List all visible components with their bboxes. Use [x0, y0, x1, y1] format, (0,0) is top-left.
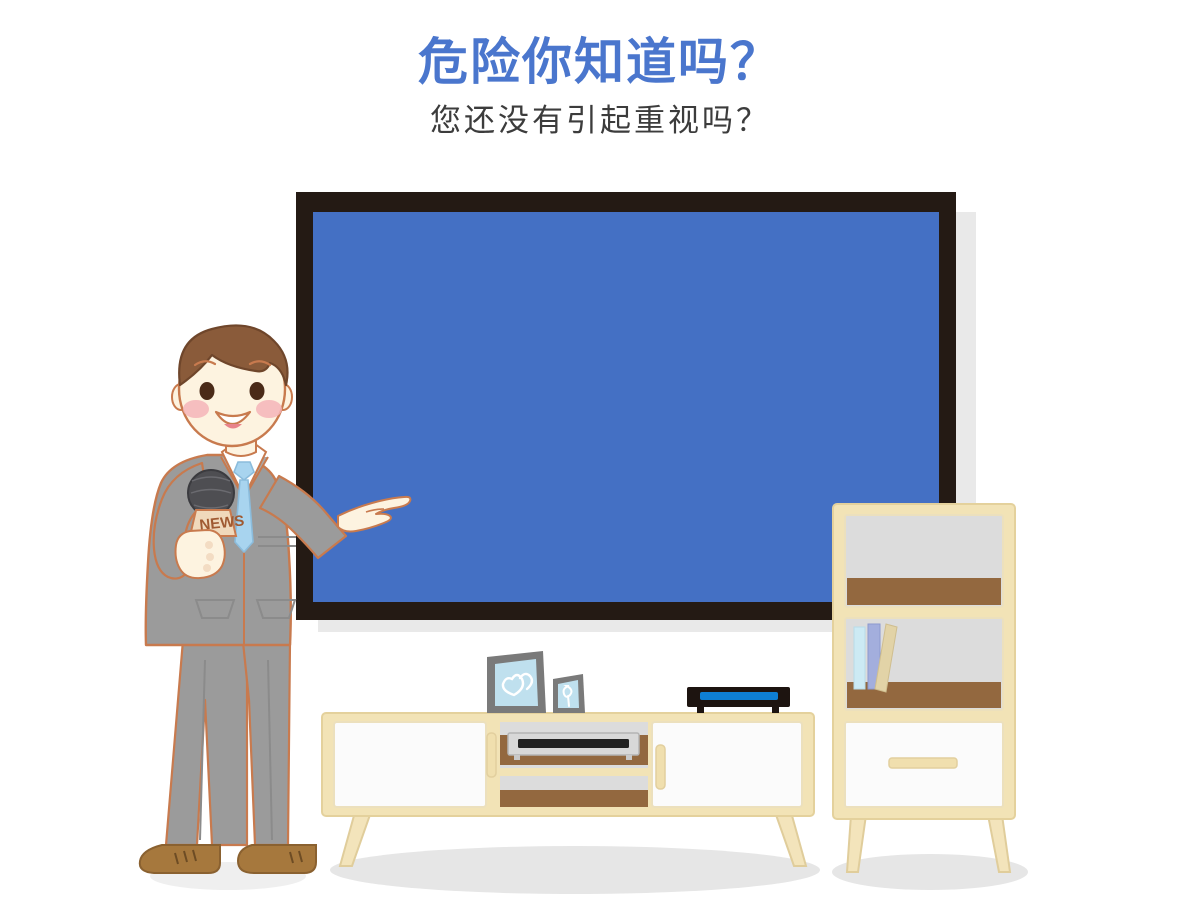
reporter-trousers — [166, 640, 290, 845]
tv-stand — [322, 713, 814, 866]
reporter-hand-grip — [176, 530, 225, 578]
stand-door-right[interactable] — [652, 722, 802, 807]
drawer-handle[interactable] — [889, 758, 957, 768]
poster-canvas: 危险你知道吗？ 您还没有引起重视吗？ — [0, 0, 1200, 918]
illustration-scene: NEWS — [0, 0, 1200, 918]
bookshelf — [833, 504, 1015, 872]
stand-door-left[interactable] — [334, 722, 486, 807]
stand-handle-right[interactable] — [656, 745, 665, 789]
stand-handle-left[interactable] — [487, 733, 496, 777]
reporter-face — [179, 325, 288, 446]
photo-frame-hearts[interactable] — [487, 651, 546, 713]
set-top-box[interactable] — [687, 687, 790, 713]
photo-frame-ribbon[interactable] — [553, 674, 585, 713]
book-cyan[interactable] — [854, 627, 865, 689]
